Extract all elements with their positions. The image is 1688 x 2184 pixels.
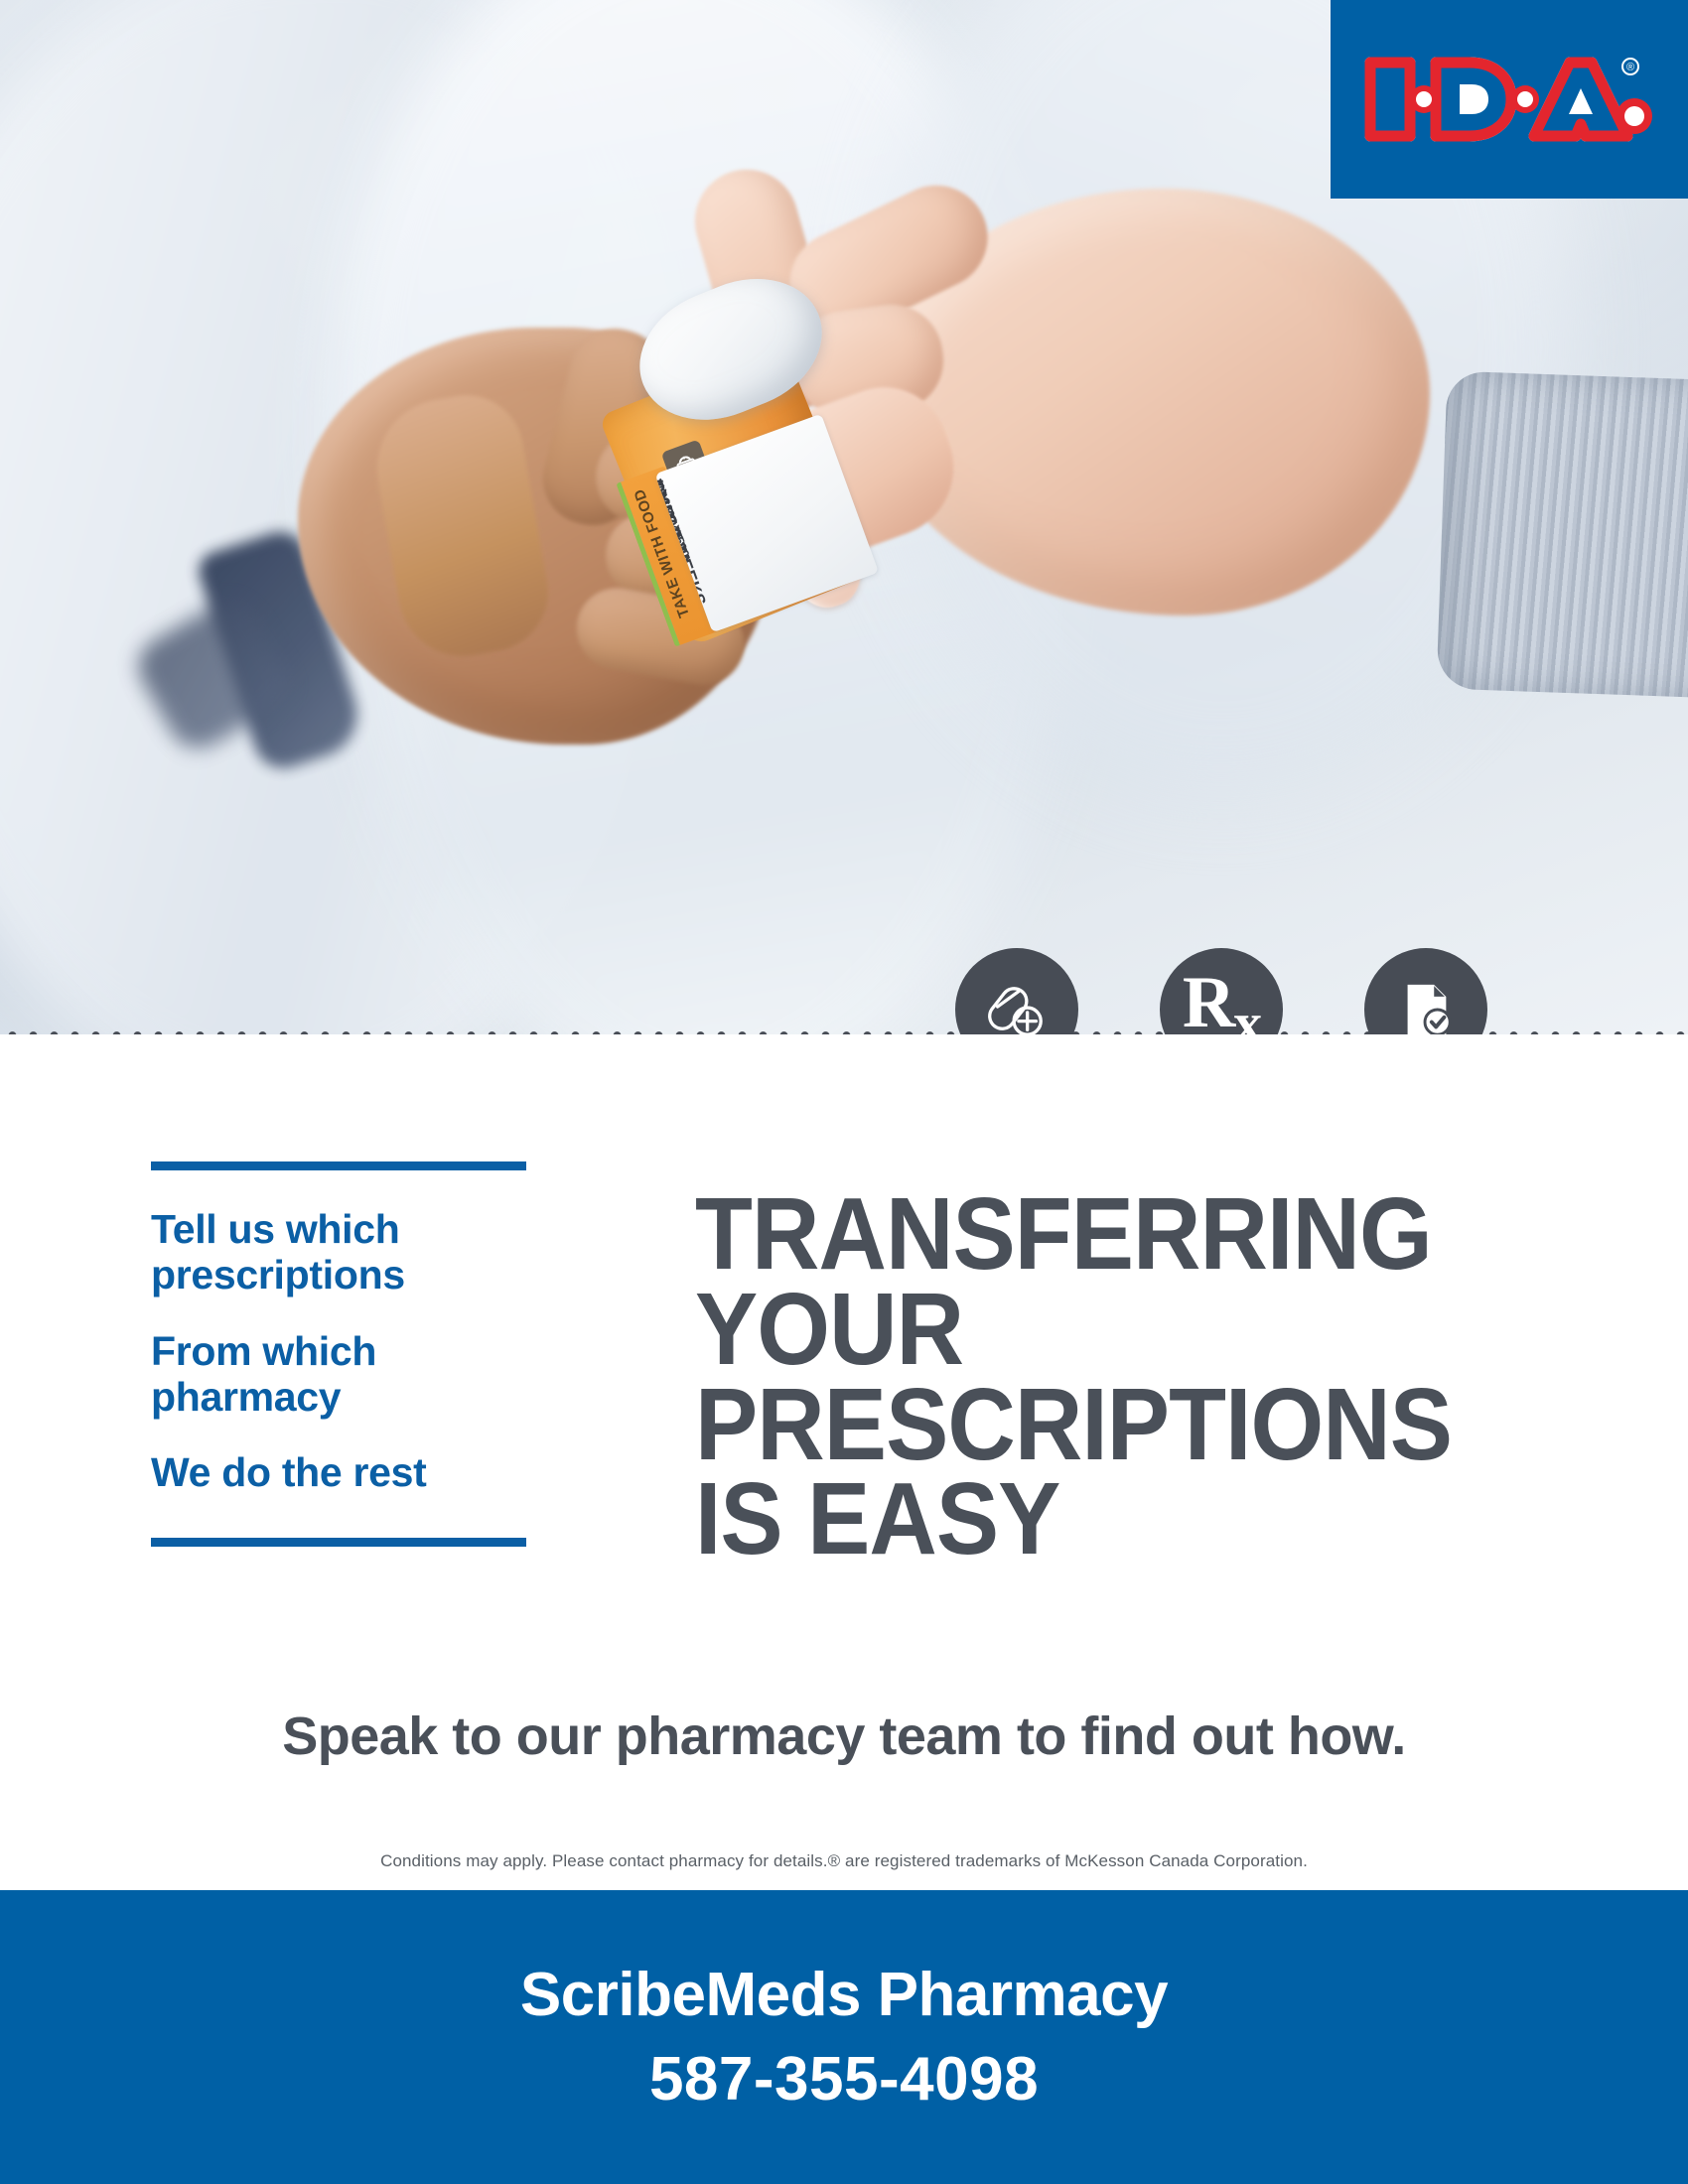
headline-line-2: YOUR bbox=[695, 1282, 1463, 1377]
headline-line-4: IS EASY bbox=[695, 1471, 1463, 1567]
headline-line-3: PRESCRIPTIONS bbox=[695, 1377, 1463, 1472]
footer-bar: ScribeMeds Pharmacy 587-355-4098 bbox=[0, 1890, 1688, 2184]
bullet-item-2: From which pharmacy bbox=[151, 1328, 528, 1421]
headline: TRANSFERRING YOUR PRESCRIPTIONS IS EASY bbox=[695, 1186, 1463, 1567]
bullet-rule-bottom bbox=[151, 1538, 526, 1547]
disclaimer-text: Conditions may apply. Please contact pha… bbox=[0, 1851, 1688, 1871]
headline-line-1: TRANSFERRING bbox=[695, 1186, 1463, 1282]
tagline: Speak to our pharmacy team to find out h… bbox=[0, 1706, 1688, 1767]
bullet-item-1: Tell us which prescriptions bbox=[151, 1206, 528, 1298]
pharmacy-name: ScribeMeds Pharmacy bbox=[520, 1960, 1168, 2030]
bullet-item-3: We do the rest bbox=[151, 1449, 528, 1495]
hero-photo: TAKE WITH FOOD 1867845 TAKE 1 TA ONLY 2 … bbox=[0, 0, 1688, 1034]
bullet-rule-top bbox=[151, 1161, 526, 1170]
ida-logo: ® bbox=[1331, 0, 1688, 199]
bullet-list: Tell us which prescriptions From which p… bbox=[151, 1161, 528, 1547]
registered-mark: ® bbox=[1626, 62, 1634, 73]
poster-root: TAKE WITH FOOD 1867845 TAKE 1 TA ONLY 2 … bbox=[0, 0, 1688, 2184]
pharmacy-phone[interactable]: 587-355-4098 bbox=[649, 2044, 1039, 2115]
knit-sweater-sleeve bbox=[1436, 371, 1688, 698]
